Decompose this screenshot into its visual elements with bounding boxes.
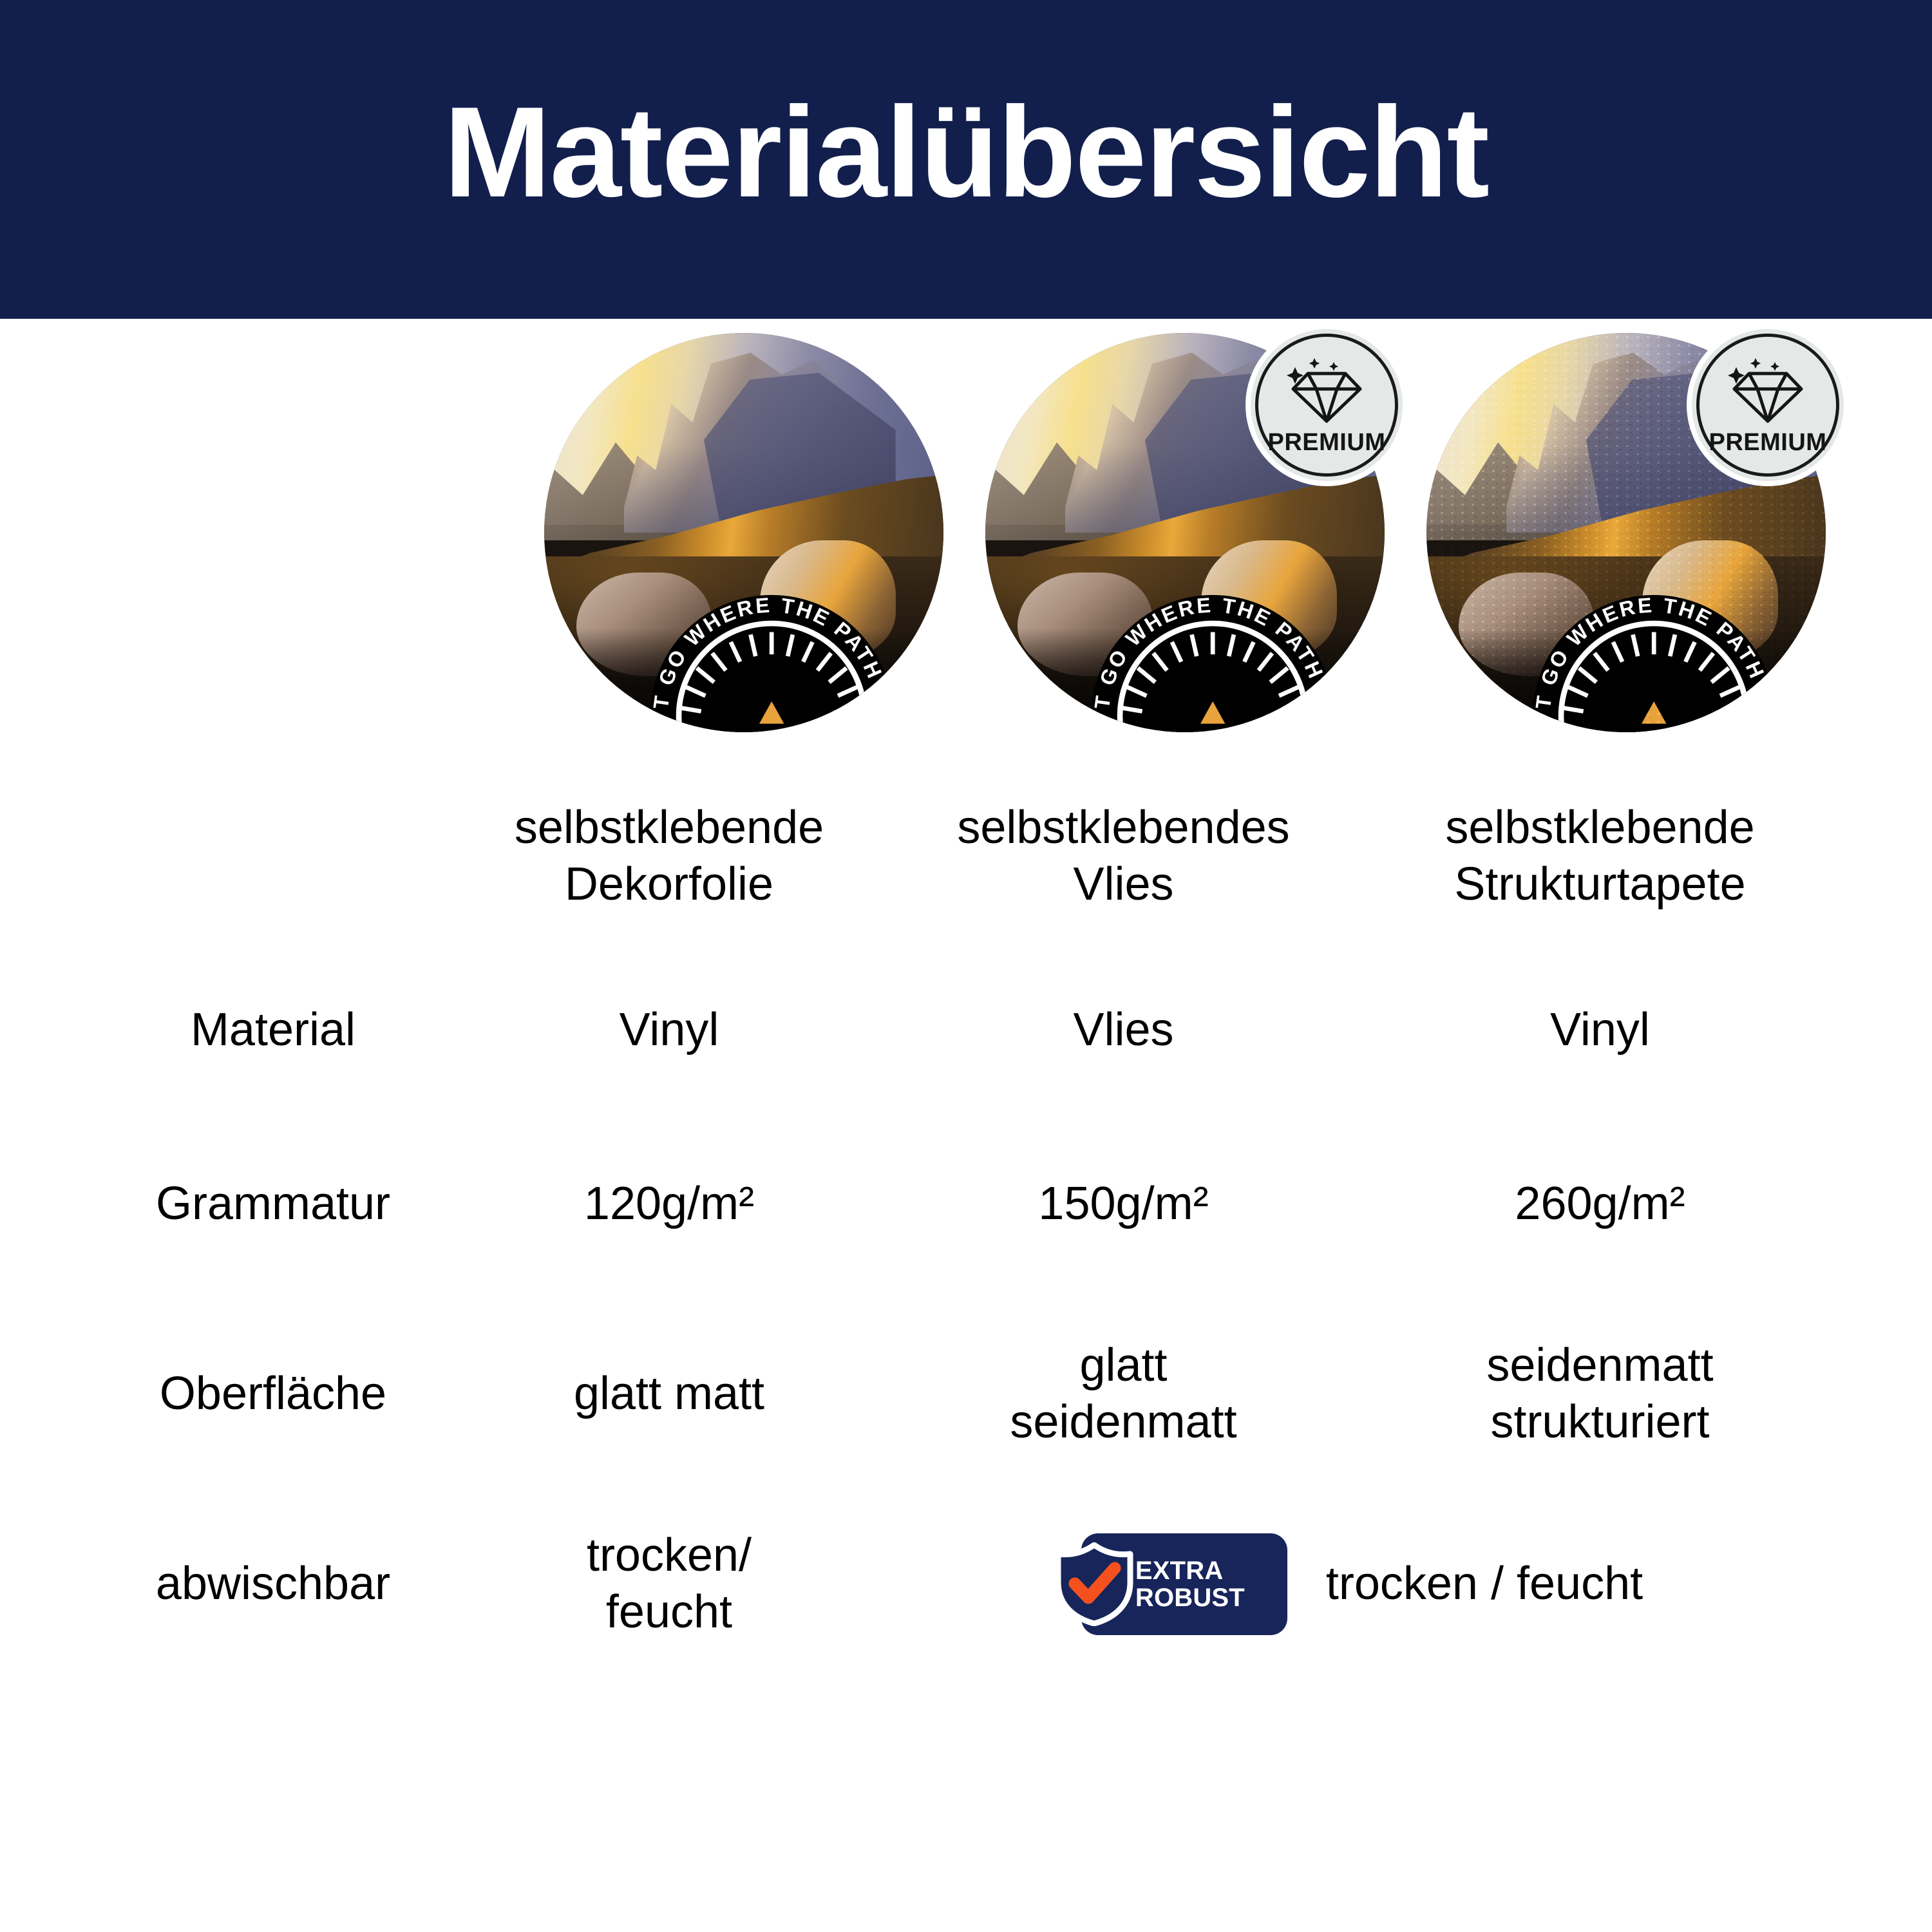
- cell-grammatur-strukturtapete: 260g/m²: [1361, 1117, 1839, 1291]
- table-row-material: Material Vinyl Vlies Vinyl: [93, 943, 1839, 1117]
- product-preview-vlies[interactable]: T GO WHERE THE PATH MAY LE: [985, 333, 1385, 732]
- cell-oberflaeche-dekorfolie: glatt matt: [453, 1291, 885, 1497]
- extra-robust-line2: ROBUST: [1135, 1584, 1245, 1611]
- material-comparison-table: selbstklebende Dekorfolie selbstklebende…: [93, 770, 1839, 1671]
- header-cell-vlies: selbstklebendes Vlies: [885, 770, 1361, 943]
- row-label-material: Material: [93, 943, 453, 1117]
- header-vlies-line1: selbstklebendes: [885, 800, 1361, 857]
- page-title: Materialübersicht: [444, 88, 1488, 231]
- cell-material-vlies: Vlies: [885, 943, 1361, 1117]
- header-dekorfolie-line2: Dekorfolie: [453, 857, 885, 913]
- table-header-row: selbstklebende Dekorfolie selbstklebende…: [93, 770, 1839, 943]
- premium-badge: PREMIUM: [1687, 324, 1849, 486]
- diamond-icon: [1726, 355, 1810, 425]
- cell-abwischbar-merged-text: trocken / feucht: [1326, 1556, 1643, 1613]
- cell-material-strukturtapete: Vinyl: [1361, 943, 1839, 1117]
- cell-material-dekorfolie: Vinyl: [453, 943, 885, 1117]
- diamond-icon: [1285, 355, 1368, 425]
- cell-grammatur-vlies: 150g/m²: [885, 1117, 1361, 1291]
- compass-graphic: T GO WHERE THE PATH MAY LE: [1089, 592, 1336, 732]
- product-preview-row: T GO WHERE THE PATH MAY LE: [0, 319, 1932, 770]
- extra-robust-line1: EXTRA: [1135, 1557, 1245, 1584]
- premium-badge-label: PREMIUM: [1268, 430, 1386, 455]
- cell-abwischbar-dekorfolie-line2: feucht: [453, 1584, 885, 1641]
- header-cell-dekorfolie: selbstklebende Dekorfolie: [453, 770, 885, 943]
- header-strukturtapete-line2: Strukturtapete: [1361, 857, 1839, 913]
- row-label-grammatur: Grammatur: [93, 1117, 453, 1291]
- product-preview-dekorfolie[interactable]: T GO WHERE THE PATH MAY LE: [544, 333, 943, 732]
- header-cell-empty: [93, 770, 453, 943]
- row-label-oberflaeche: Oberfläche: [93, 1291, 453, 1497]
- extra-robust-badge: EXTRA ROBUST: [1081, 1533, 1287, 1635]
- cell-oberflaeche-strukturtapete-line2: strukturiert: [1361, 1394, 1839, 1451]
- header-cell-strukturtapete: selbstklebende Strukturtapete: [1361, 770, 1839, 943]
- cell-abwischbar-dekorfolie: trocken/ feucht: [453, 1497, 885, 1671]
- header-dekorfolie-line1: selbstklebende: [453, 800, 885, 857]
- cell-oberflaeche-vlies: glatt seidenmatt: [885, 1291, 1361, 1497]
- material-comparison-section: selbstklebende Dekorfolie selbstklebende…: [0, 770, 1932, 1671]
- compass-graphic: T GO WHERE THE PATH MAY LE: [1530, 592, 1777, 732]
- header-strukturtapete-line1: selbstklebende: [1361, 800, 1839, 857]
- cell-abwischbar-merged: EXTRA ROBUST trocken / feucht: [885, 1497, 1839, 1671]
- compass-graphic: T GO WHERE THE PATH MAY LE: [648, 592, 895, 732]
- product-image-dekorfolie: T GO WHERE THE PATH MAY LE: [544, 333, 943, 732]
- table-row-grammatur: Grammatur 120g/m² 150g/m² 260g/m²: [93, 1117, 1839, 1291]
- shield-check-icon: [1053, 1542, 1135, 1626]
- page-header: Materialübersicht: [0, 0, 1932, 319]
- cell-oberflaeche-vlies-line1: glatt: [885, 1338, 1361, 1394]
- row-label-abwischbar: abwischbar: [93, 1497, 453, 1671]
- cell-abwischbar-dekorfolie-line1: trocken/: [453, 1528, 885, 1584]
- cell-oberflaeche-strukturtapete: seidenmatt strukturiert: [1361, 1291, 1839, 1497]
- premium-badge-label: PREMIUM: [1709, 430, 1827, 455]
- cell-oberflaeche-vlies-line2: seidenmatt: [885, 1394, 1361, 1451]
- premium-badge: PREMIUM: [1245, 324, 1408, 486]
- table-row-oberflaeche: Oberfläche glatt matt glatt seidenmatt s…: [93, 1291, 1839, 1497]
- table-row-abwischbar: abwischbar trocken/ feucht: [93, 1497, 1839, 1671]
- product-preview-strukturtapete[interactable]: T GO WHERE THE PATH MAY LE: [1426, 333, 1826, 732]
- cell-oberflaeche-strukturtapete-line1: seidenmatt: [1361, 1338, 1839, 1394]
- cell-grammatur-dekorfolie: 120g/m²: [453, 1117, 885, 1291]
- header-vlies-line2: Vlies: [885, 857, 1361, 913]
